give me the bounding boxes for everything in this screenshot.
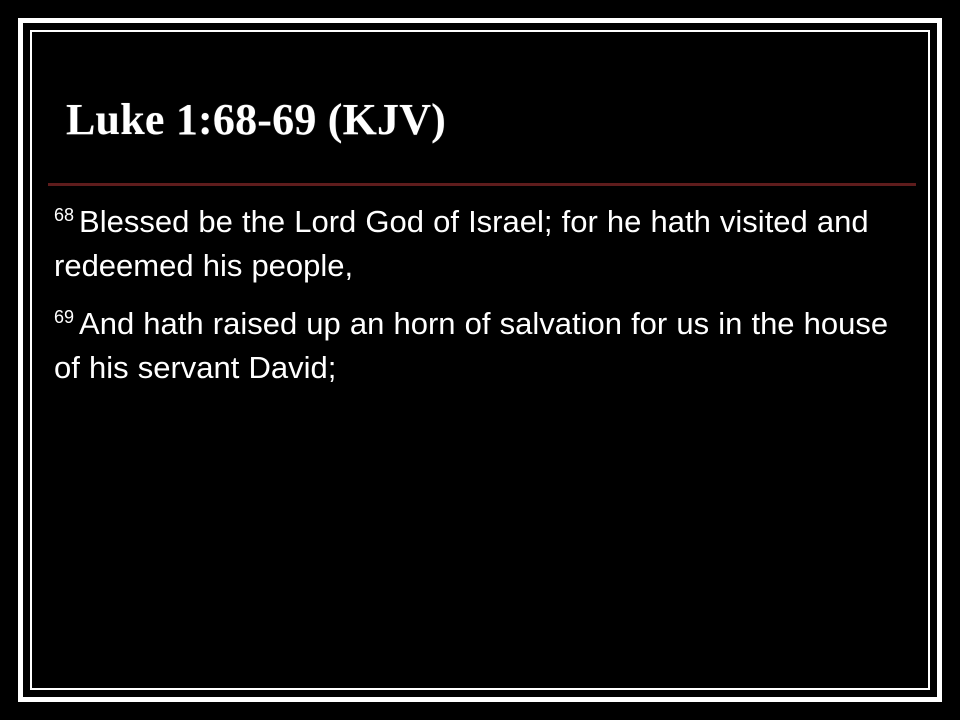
- verse-paragraph: 68Blessed be the Lord God of Israel; for…: [54, 200, 906, 288]
- verse-paragraph: 69And hath raised up an horn of salvatio…: [54, 302, 906, 390]
- verse-number: 69: [54, 307, 79, 327]
- verse-text: Blessed be the Lord God of Israel; for h…: [54, 204, 869, 283]
- verse-number: 68: [54, 205, 79, 225]
- page-title: Luke 1:68-69 (KJV): [66, 94, 446, 146]
- verse-text: And hath raised up an horn of salvation …: [54, 306, 888, 385]
- title-divider-rule: [48, 183, 916, 186]
- scripture-slide: Luke 1:68-69 (KJV) 68Blessed be the Lord…: [0, 0, 960, 720]
- scripture-body: 68Blessed be the Lord God of Israel; for…: [54, 200, 906, 390]
- slide-content-area: Luke 1:68-69 (KJV) 68Blessed be the Lord…: [32, 32, 928, 688]
